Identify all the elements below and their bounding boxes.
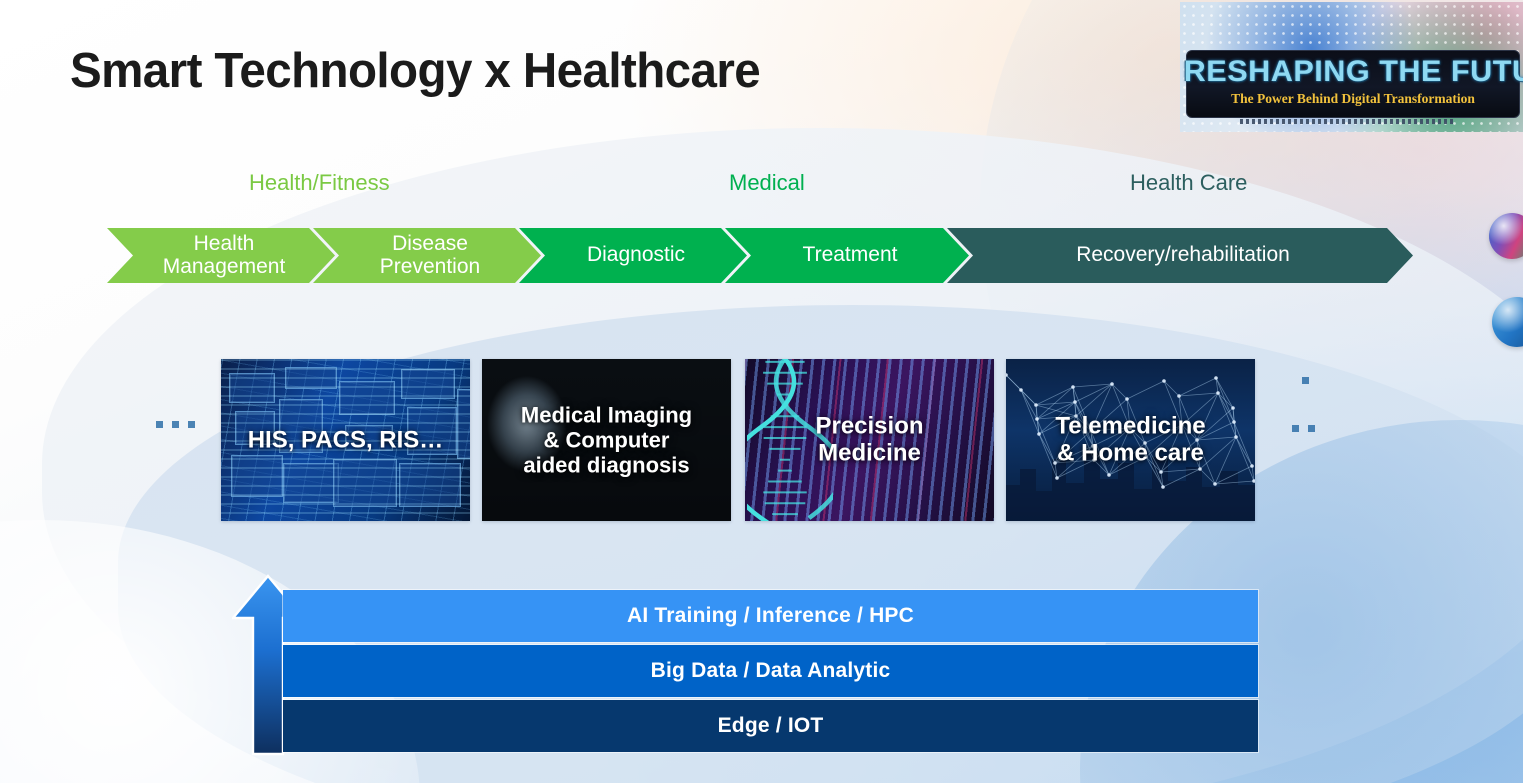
stack-layer-2[interactable]: Big Data / Data Analytic: [283, 645, 1258, 697]
solution-card-3[interactable]: PrecisionMedicine: [745, 359, 994, 521]
ellipsis-dot: [1302, 377, 1309, 384]
ellipsis-right-top: [1302, 377, 1309, 384]
chevron-label: Treatment: [803, 244, 898, 266]
schema-table-box: [285, 367, 337, 389]
stage-label-3: Health Care: [1130, 170, 1247, 196]
chevron-stage-5[interactable]: Recovery/rehabilitation: [947, 228, 1413, 283]
logo-footer-strip: [1240, 119, 1456, 124]
logo-subtitle-text: The Power Behind Digital Transformation: [1187, 91, 1519, 107]
ellipsis-left: [156, 421, 195, 428]
chevron-stage-3[interactable]: Diagnostic: [519, 228, 747, 283]
card-caption: PrecisionMedicine: [745, 413, 994, 468]
stack-layer-3[interactable]: Edge / IOT: [283, 700, 1258, 752]
stage-label-1: Health/Fitness: [249, 170, 390, 196]
slide-canvas: Smart Technology x Healthcare RESHAPING …: [0, 0, 1523, 783]
stack-layer-1[interactable]: AI Training / Inference / HPC: [283, 590, 1258, 642]
chevron-label: Diagnostic: [587, 244, 685, 266]
ellipsis-dot: [1308, 425, 1315, 432]
card-caption-line2: & Home care: [1057, 440, 1204, 467]
stack-layer-label: Edge / IOT: [718, 714, 824, 738]
schema-table-box: [229, 373, 275, 403]
logo-plate: RESHAPING THE FUTURE The Power Behind Di…: [1186, 50, 1520, 118]
ellipsis-dot: [1292, 425, 1299, 432]
schema-table-box: [401, 369, 455, 399]
solution-card-4[interactable]: Telemedicine& Home care: [1006, 359, 1255, 521]
card-caption-line2: & Computer: [544, 427, 670, 452]
ellipsis-dot: [172, 421, 179, 428]
page-title: Smart Technology x Healthcare: [70, 43, 760, 99]
chevron-stage-1[interactable]: HealthManagement: [107, 228, 335, 283]
card-caption: HIS, PACS, RIS…: [221, 426, 470, 453]
solution-card-2[interactable]: Medical Imaging& Computeraided diagnosis: [482, 359, 731, 521]
schema-table-box: [339, 381, 395, 415]
schema-table-box: [231, 455, 283, 497]
stage-label-2: Medical: [729, 170, 805, 196]
ellipsis-dot: [156, 421, 163, 428]
logo-title-text: RESHAPING THE FUTURE: [1184, 55, 1523, 89]
stack-layer-label: AI Training / Inference / HPC: [627, 604, 914, 628]
ellipsis-right-bottom: [1292, 425, 1315, 432]
chevron-label-line2: Management: [163, 255, 286, 278]
schema-table-box: [283, 463, 339, 503]
chevron-label-line2: Prevention: [380, 255, 480, 278]
card-caption: Telemedicine& Home care: [1006, 413, 1255, 468]
schema-table-box: [399, 463, 461, 507]
chevron-label: HealthManagement: [163, 233, 286, 278]
chevron-stage-2[interactable]: DiseasePrevention: [313, 228, 541, 283]
chevron-stage-4[interactable]: Treatment: [725, 228, 969, 283]
ellipsis-dot: [188, 421, 195, 428]
chevron-label: Recovery/rehabilitation: [1076, 244, 1290, 266]
stack-layer-label: Big Data / Data Analytic: [651, 659, 891, 683]
chevron-label: DiseasePrevention: [380, 233, 480, 278]
schema-table-box: [333, 459, 397, 507]
solution-card-1[interactable]: HIS, PACS, RIS…: [221, 359, 470, 521]
card-caption-line2: Medicine: [818, 440, 921, 467]
reshaping-the-future-logo: RESHAPING THE FUTURE The Power Behind Di…: [1180, 2, 1523, 132]
card-caption: Medical Imaging& Computeraided diagnosis: [482, 402, 731, 477]
card-caption-line3: aided diagnosis: [523, 453, 689, 478]
